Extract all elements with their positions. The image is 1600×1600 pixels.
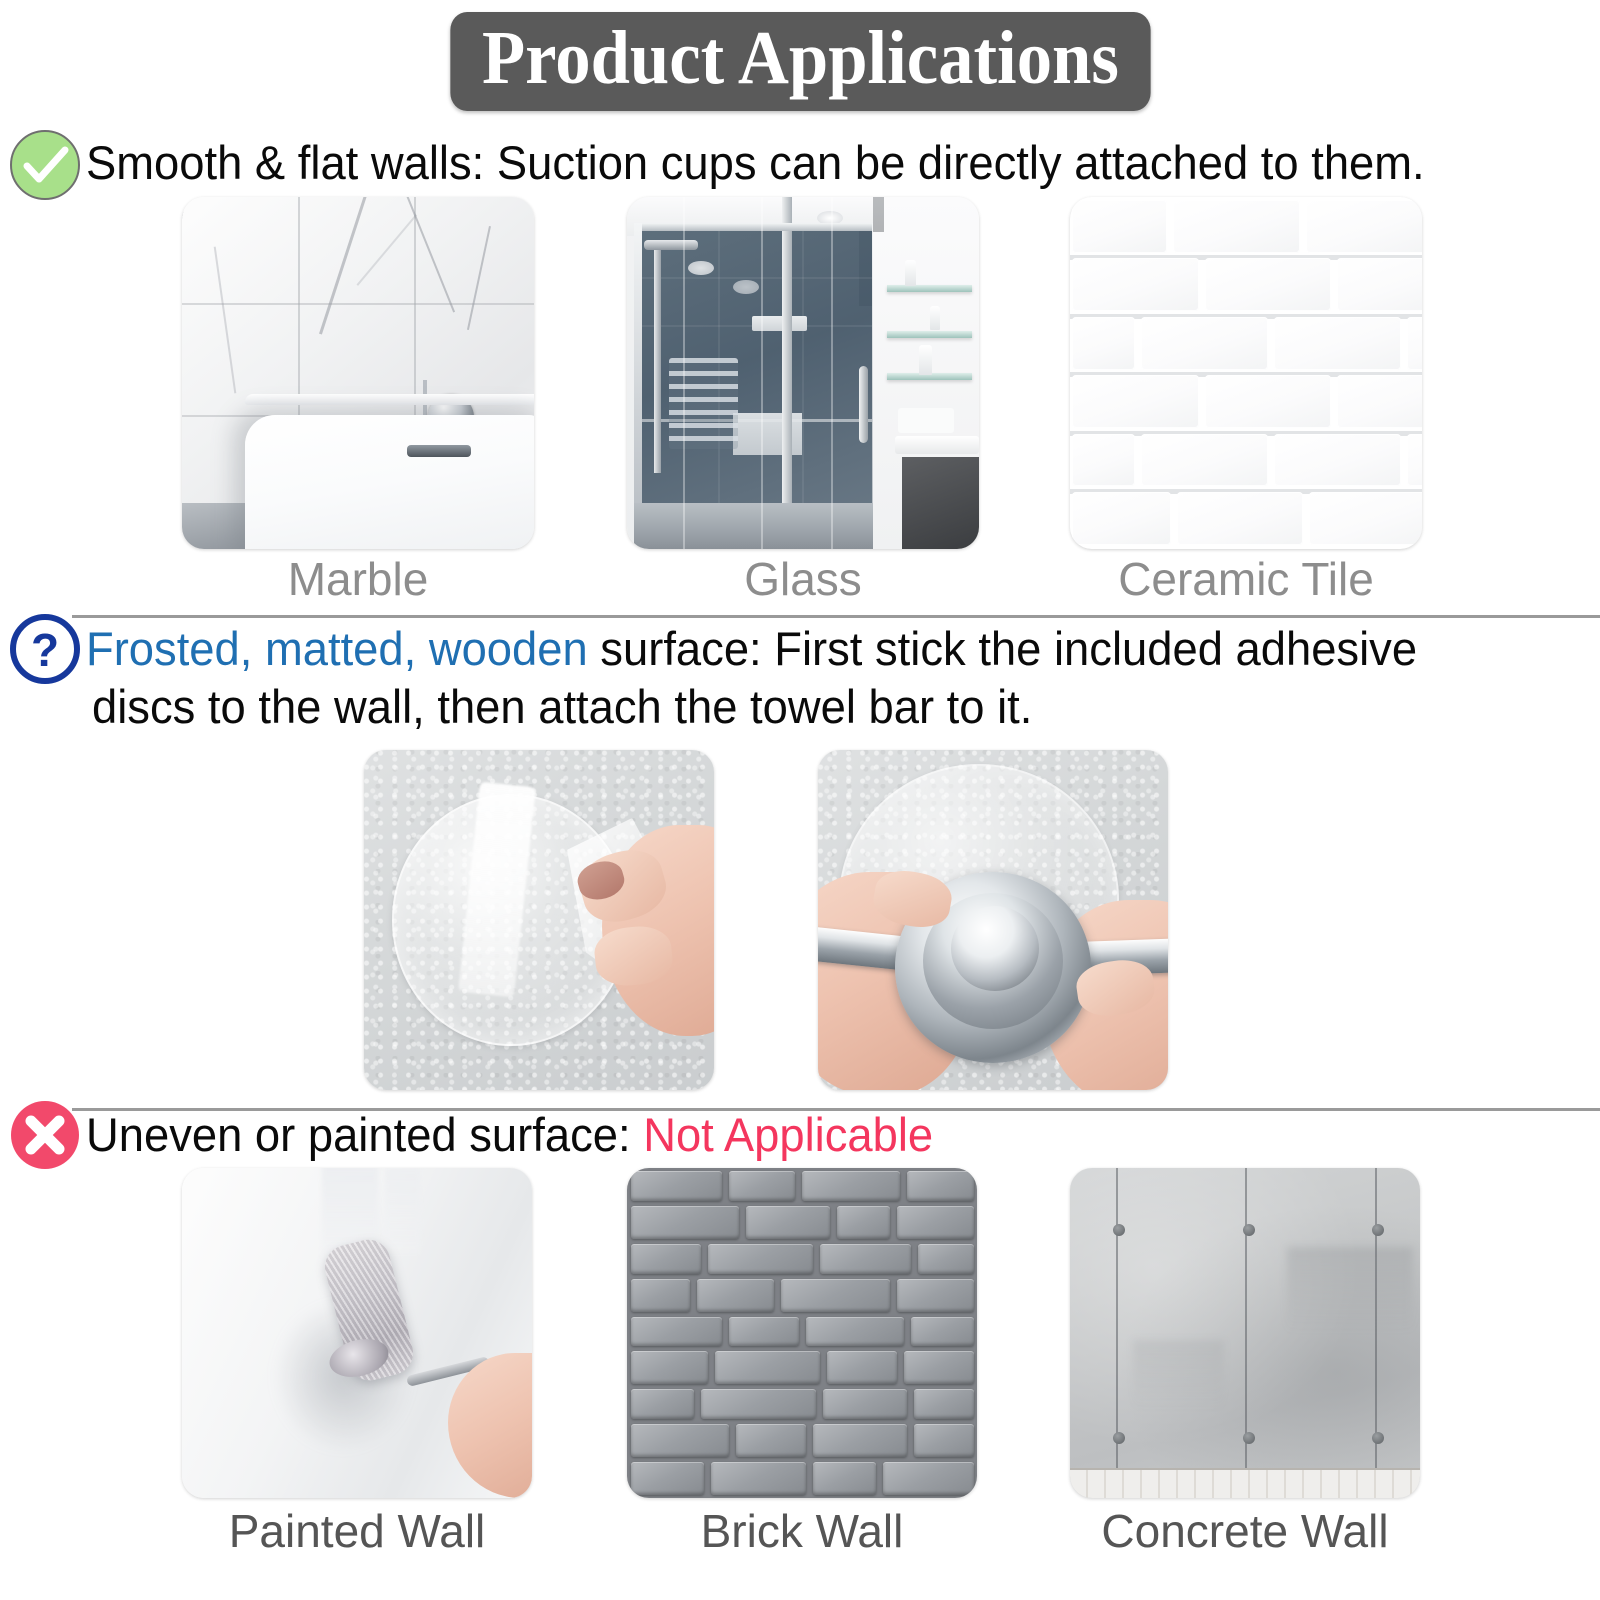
section-uneven-header: Uneven or painted surface: Not Applicabl… <box>0 1098 1600 1178</box>
section-smooth-header: Smooth & flat walls: Suction cups can be… <box>0 128 1600 204</box>
section-frosted-header: ? Frosted, matted, wooden surface: First… <box>0 612 1600 742</box>
panel-concrete-wall <box>1070 1168 1420 1498</box>
section-frosted-emphasis: Frosted, matted, wooden <box>86 622 588 675</box>
panel-marble <box>182 197 534 549</box>
caption-ceramic-tile: Ceramic Tile <box>1070 552 1422 606</box>
hand <box>448 1353 532 1498</box>
panel-adhesive-disc-peel <box>364 750 714 1090</box>
section-uneven-text: Uneven or painted surface: <box>86 1108 643 1161</box>
caption-painted-wall: Painted Wall <box>182 1504 532 1558</box>
section-smooth-text: Smooth & flat walls: Suction cups can be… <box>86 134 1543 192</box>
wood-floor <box>1070 1468 1420 1498</box>
panel-towel-bar-attach <box>818 750 1168 1090</box>
title-banner: Product Applications <box>0 12 1600 111</box>
panel-ceramic-tile <box>1070 197 1422 549</box>
panel-painted-wall <box>182 1168 532 1498</box>
caption-glass: Glass <box>627 552 979 606</box>
product-applications-infographic: Product Applications Smooth & flat walls… <box>0 0 1600 1600</box>
section-frosted-text-line2: discs to the wall, then attach the towel… <box>92 678 1543 736</box>
shower-enclosure <box>634 225 880 528</box>
panel-brick-wall <box>627 1168 977 1498</box>
svg-text:?: ? <box>31 624 59 676</box>
panel-glass <box>627 197 979 549</box>
bathtub <box>245 415 534 549</box>
page-title: Product Applications <box>450 12 1150 111</box>
question-circle-icon: ? <box>8 612 82 686</box>
x-circle-icon <box>8 1098 82 1172</box>
caption-marble: Marble <box>182 552 534 606</box>
check-circle-icon <box>8 128 82 202</box>
section-uneven-emphasis: Not Applicable <box>643 1108 933 1161</box>
section-frosted-text: surface: First stick the included adhesi… <box>588 622 1417 675</box>
caption-concrete-wall: Concrete Wall <box>1070 1504 1420 1558</box>
caption-brick-wall: Brick Wall <box>627 1504 977 1558</box>
